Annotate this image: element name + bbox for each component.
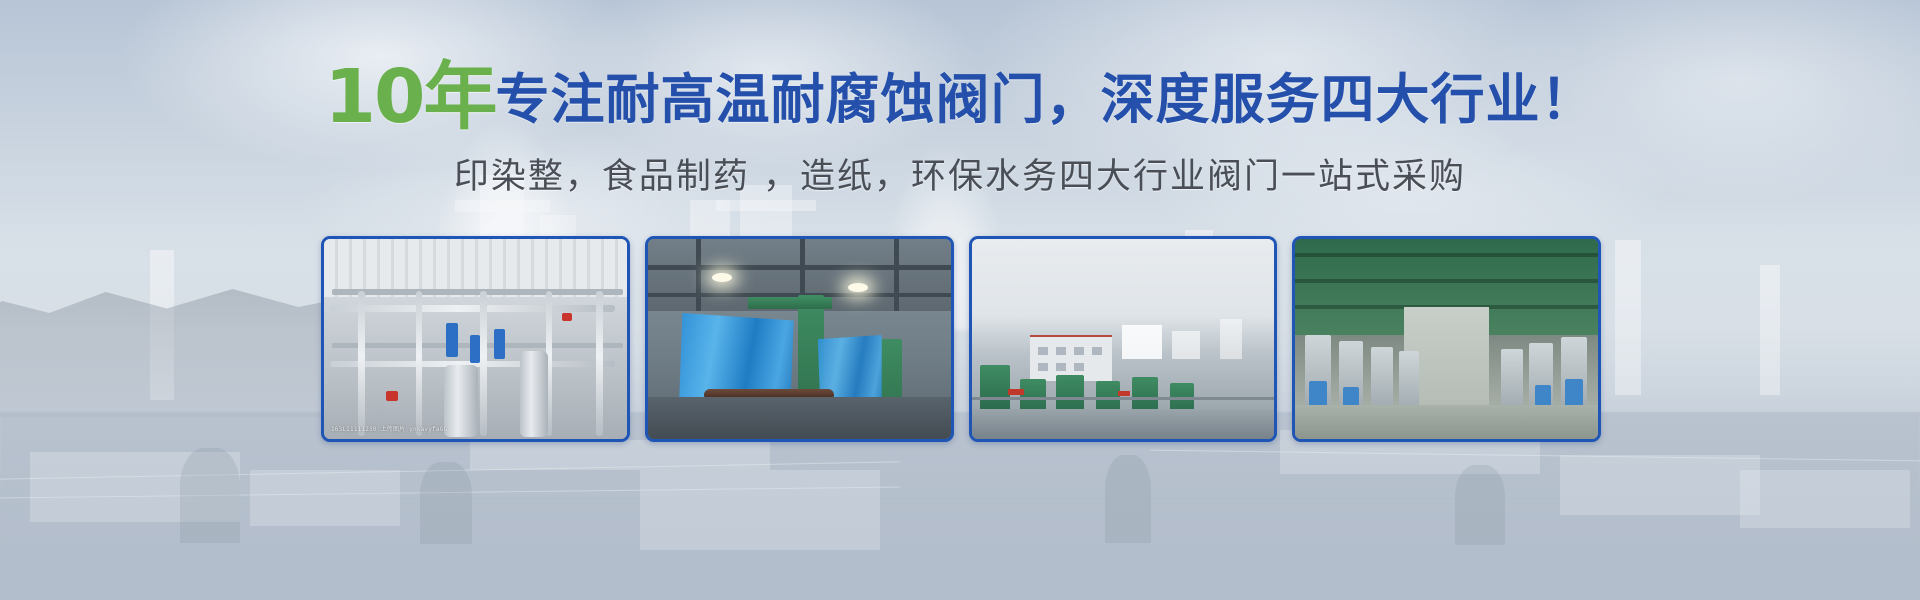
photo-card-food-pharma[interactable]: 163LI1111230 上传图片 ynkavyfaGG	[321, 236, 630, 442]
blue-valve	[446, 323, 458, 357]
machine-frame	[748, 297, 832, 309]
yard-ground	[972, 409, 1275, 439]
distant-skyline	[1172, 331, 1200, 359]
roof-rib	[1295, 279, 1598, 283]
building-window	[1038, 363, 1048, 371]
yard-rail	[972, 397, 1275, 400]
building-window	[1038, 347, 1048, 355]
building-window	[1074, 363, 1084, 371]
distant-skyline	[1220, 319, 1242, 359]
process-tank	[444, 365, 478, 437]
pipe-horizontal	[330, 305, 615, 312]
photo-card-water-corridor[interactable]	[1292, 236, 1601, 442]
photo-image-textile	[648, 239, 951, 439]
building-window	[1056, 347, 1066, 355]
hero-banner: 10年专注耐高温耐腐蚀阀门，深度服务四大行业！ 印染整，食品制药 ，造纸，环保水…	[0, 0, 1920, 600]
photo-image-water-corridor	[1295, 239, 1598, 439]
ceiling-lamp	[712, 273, 732, 282]
building-window	[1074, 347, 1084, 355]
factory-floor	[648, 397, 951, 439]
banner-subtitle: 印染整，食品制药 ，造纸，环保水务四大行业阀门一站式采购	[0, 148, 1920, 199]
corridor-ground	[1295, 405, 1598, 439]
red-marker	[1008, 389, 1024, 395]
distant-skyline	[1122, 325, 1162, 359]
photo-image-paper-yard	[972, 239, 1275, 439]
photo-image-food-pharma: 163LI1111230 上传图片 ynkavyfaGG	[324, 239, 627, 439]
pipe-vertical	[358, 291, 365, 436]
blue-valve	[494, 329, 505, 359]
roof-truss	[696, 239, 701, 311]
red-marker	[1118, 391, 1130, 396]
photo-strip: 163LI1111230 上传图片 ynkavyfaGG	[321, 236, 1601, 436]
roof-rib	[1295, 253, 1598, 257]
photo-card-paper-yard[interactable]	[969, 236, 1278, 442]
building-window	[1056, 363, 1066, 371]
blue-valve	[470, 335, 480, 363]
headline-main: 专注耐高温耐腐蚀阀门，深度服务四大行业！	[495, 68, 1595, 131]
pipe-vertical	[480, 291, 487, 436]
building-window	[1092, 347, 1102, 355]
photo-card-textile[interactable]	[645, 236, 954, 442]
roof-truss	[894, 239, 899, 311]
red-handle	[562, 313, 572, 321]
banner-headline: 10年专注耐高温耐腐蚀阀门，深度服务四大行业！	[0, 60, 1920, 134]
red-handle	[386, 391, 398, 401]
photo-watermark: 163LI1111230 上传图片 ynkavyfaGG	[331, 424, 447, 433]
pipe-vertical	[596, 291, 603, 436]
pipe-vertical	[416, 291, 422, 436]
process-tank	[520, 351, 548, 437]
ceiling-lamp	[848, 283, 868, 292]
headline-years: 10年	[325, 54, 496, 140]
frame-beam	[332, 289, 623, 295]
